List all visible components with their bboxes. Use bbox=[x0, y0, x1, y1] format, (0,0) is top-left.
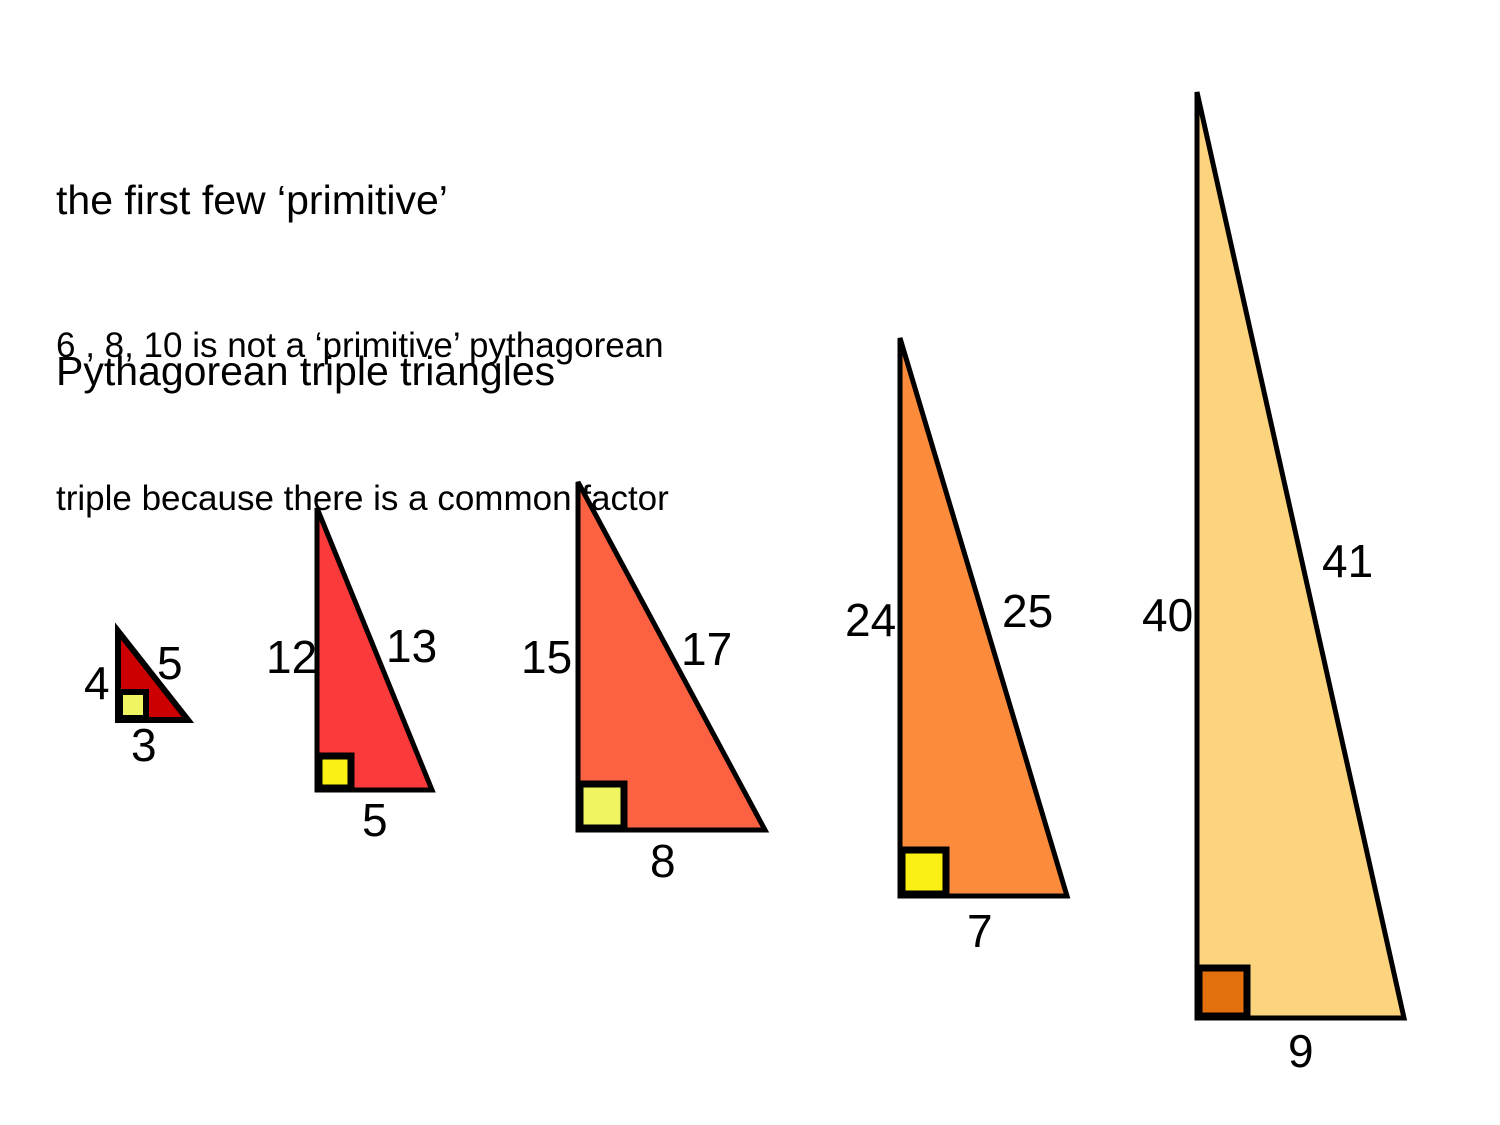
triple-8-15-17-horizontal-leg-label: 8 bbox=[650, 838, 676, 884]
triple-8-15-17-right-angle-marker bbox=[580, 784, 624, 828]
triple-7-24-25-horizontal-leg-label: 7 bbox=[967, 908, 993, 954]
explanatory-note-line-2: triple because there is a common factor bbox=[56, 473, 669, 524]
triple-9-40-41-vertical-leg-label: 40 bbox=[1142, 592, 1193, 638]
triple-9-40-41-right-angle-marker bbox=[1199, 968, 1247, 1016]
triple-7-24-25-right-angle-marker bbox=[902, 850, 946, 894]
triple-5-12-13-vertical-leg-label: 12 bbox=[266, 634, 317, 680]
triple-7-24-25-vertical-leg-label: 24 bbox=[845, 597, 896, 643]
triple-3-4-5-horizontal-leg-label: 3 bbox=[131, 722, 157, 768]
triple-5-12-13-horizontal-leg-label: 5 bbox=[362, 797, 388, 843]
triple-9-40-41-hypotenuse-label: 41 bbox=[1322, 538, 1373, 584]
triple-3-4-5-hypotenuse-label: 5 bbox=[157, 640, 183, 686]
triple-8-15-17-hypotenuse-label: 17 bbox=[681, 626, 732, 672]
triple-3-4-5-vertical-leg-label: 4 bbox=[84, 660, 110, 706]
triple-5-12-13-hypotenuse-label: 13 bbox=[386, 623, 437, 669]
slide-canvas: the first few ‘primitive’ Pythagorean tr… bbox=[0, 0, 1500, 1125]
triple-7-24-25-hypotenuse-label: 25 bbox=[1002, 588, 1053, 634]
triple-5-12-13-right-angle-marker bbox=[319, 756, 351, 788]
explanatory-note-line-1: 6 , 8, 10 is not a ‘primitive’ pythagore… bbox=[56, 320, 669, 371]
triple-8-15-17-vertical-leg-label: 15 bbox=[521, 634, 572, 680]
triple-9-40-41-horizontal-leg-label: 9 bbox=[1288, 1028, 1314, 1074]
triple-3-4-5-right-angle-marker bbox=[120, 692, 146, 718]
explanatory-note: 6 , 8, 10 is not a ‘primitive’ pythagore… bbox=[56, 218, 669, 626]
